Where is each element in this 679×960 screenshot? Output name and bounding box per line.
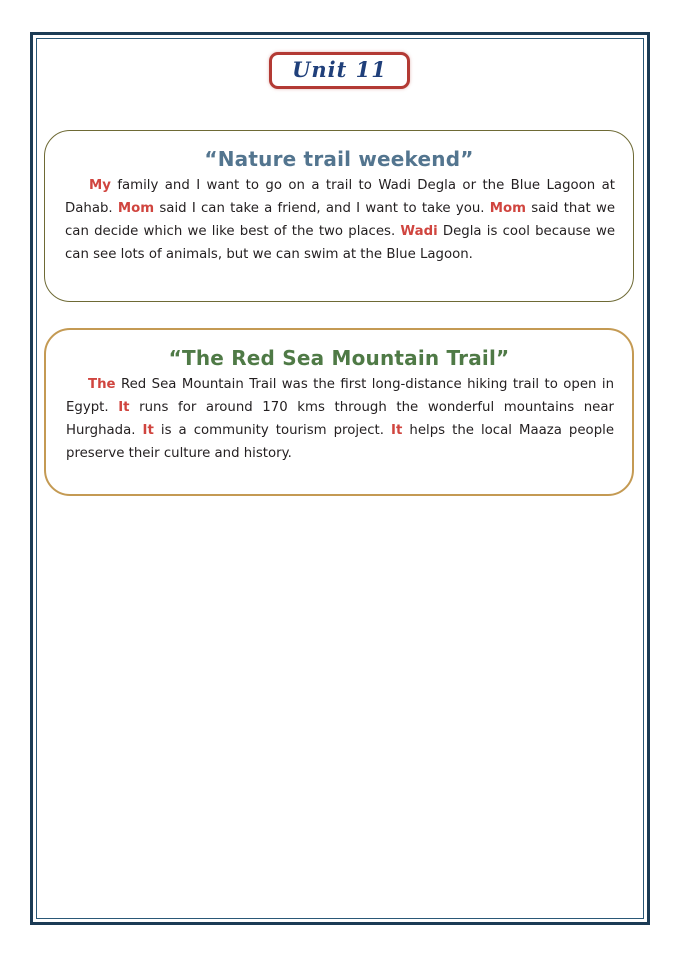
- body-text-run: is a community tourism project.: [154, 423, 391, 438]
- highlighted-word: It: [391, 423, 402, 438]
- body-text-run: said I can take a friend, and I want to …: [154, 201, 490, 216]
- story-heading-red-sea-mountain-trail: “The Red Sea Mountain Trail”: [46, 346, 632, 370]
- story-heading-nature-trail-weekend: “Nature trail weekend”: [45, 147, 633, 171]
- highlighted-word: The: [88, 377, 116, 392]
- highlighted-word: My: [89, 178, 111, 193]
- highlighted-word: Wadi: [400, 224, 437, 239]
- unit-badge: Unit 11: [269, 52, 410, 89]
- highlighted-word: It: [118, 400, 129, 415]
- unit-badge-container: Unit 11: [0, 52, 679, 89]
- story-paragraph-nature-trail-weekend: My family and I want to go on a trail to…: [45, 175, 633, 266]
- highlighted-word: Mom: [490, 201, 526, 216]
- story-box-nature-trail-weekend: “Nature trail weekend” My family and I w…: [44, 130, 634, 302]
- highlighted-word: It: [143, 423, 154, 438]
- story-box-red-sea-mountain-trail: “The Red Sea Mountain Trail” The Red Sea…: [44, 328, 634, 496]
- highlighted-word: Mom: [118, 201, 154, 216]
- story-paragraph-red-sea-mountain-trail: The Red Sea Mountain Trail was the first…: [46, 374, 632, 465]
- unit-badge-label: Unit 11: [292, 58, 387, 81]
